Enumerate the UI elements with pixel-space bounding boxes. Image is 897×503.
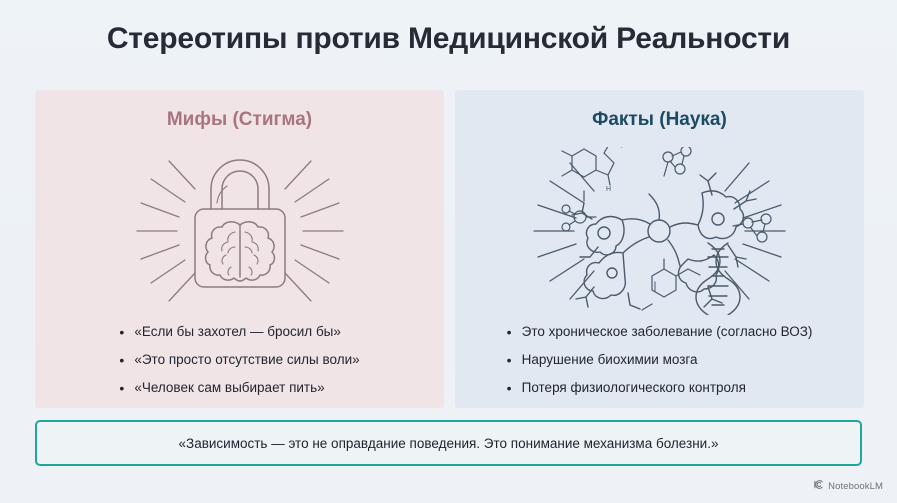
myths-panel-header: Мифы (Стигма) (35, 109, 444, 131)
list-item: «Это просто отсутствие силы воли» (119, 346, 359, 374)
list-item: Потеря физиологического контроля (507, 374, 813, 402)
myths-panel: Мифы (Стигма) (35, 90, 444, 408)
svg-text:CH₃: CH₃ (610, 147, 623, 149)
notebooklm-logo-icon (813, 477, 824, 495)
neuron-molecules-dna-illustration: CH₃ H (455, 146, 864, 316)
list-item: «Человек сам выбирает пить» (119, 374, 359, 402)
facts-panel: Факты (Наука) (455, 90, 864, 408)
facts-panel-header: Факты (Наука) (455, 109, 864, 131)
quote-text: «Зависимость — это не оправдание поведен… (179, 436, 719, 451)
myths-bullet-list: «Если бы захотел — бросил бы» «Это прост… (35, 318, 444, 402)
list-item: Это хроническое заболевание (согласно ВО… (507, 318, 813, 346)
facts-bullet-list: Это хроническое заболевание (согласно ВО… (455, 318, 864, 402)
svg-text:H: H (606, 186, 611, 193)
page-title: Стереотипы против Медицинской Реальности (0, 22, 897, 56)
notebooklm-label: NotebookLM (828, 481, 883, 492)
list-item: «Если бы захотел — бросил бы» (119, 318, 359, 346)
padlock-with-brain-illustration (35, 146, 444, 316)
quote-banner: «Зависимость — это не оправдание поведен… (35, 420, 862, 466)
list-item: Нарушение биохимии мозга (507, 346, 813, 374)
notebooklm-watermark: NotebookLM (813, 477, 883, 495)
slide-canvas: Стереотипы против Медицинской Реальности… (0, 0, 897, 503)
